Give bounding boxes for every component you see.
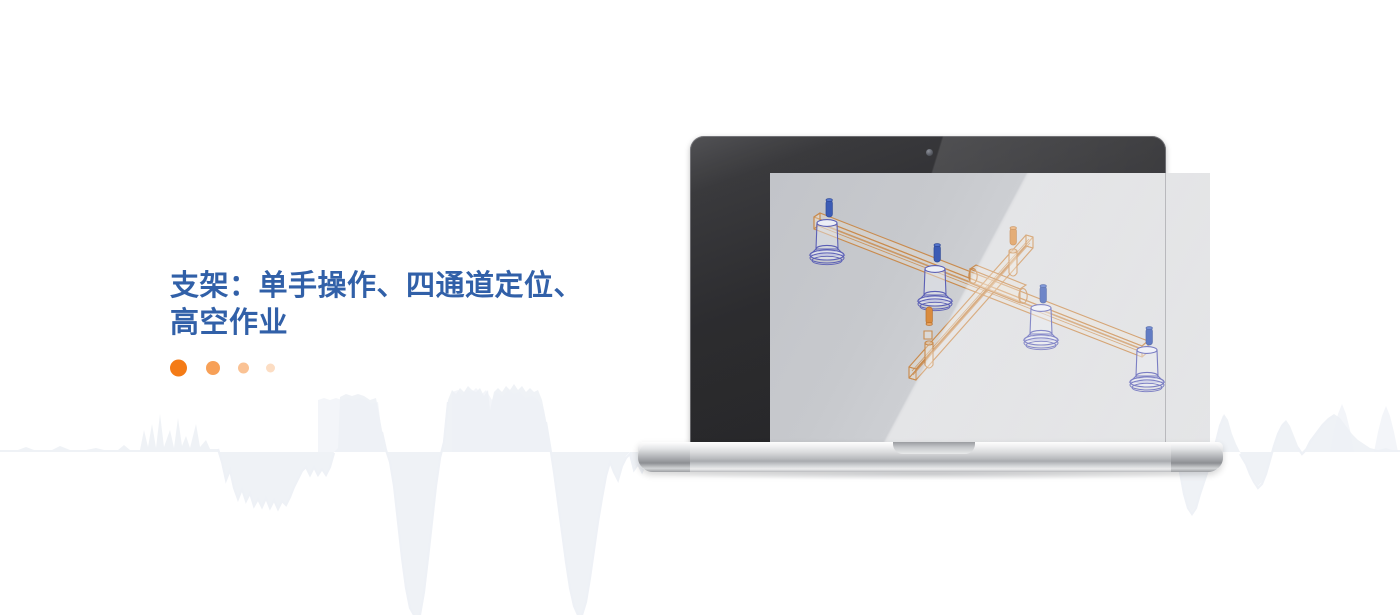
cad-bracket-drawing [770, 173, 1210, 444]
copy-block: 支架：单手操作、四通道定位、 高空作业 [170, 268, 600, 378]
adjuster-pin-1 [1010, 227, 1016, 245]
carousel-dot-3[interactable] [238, 363, 249, 374]
adjuster-pin-2 [926, 307, 932, 325]
laptop-base-notch [893, 442, 975, 454]
laptop-lid [690, 136, 1166, 454]
locking-pin-1 [826, 199, 832, 217]
laptop-base [638, 442, 1223, 472]
locking-pin-3 [1040, 285, 1046, 303]
laptop-base-right-cap [1171, 442, 1223, 472]
laptop-mockup [628, 130, 1228, 480]
carousel-dot-1[interactable] [170, 360, 187, 377]
locking-pin-2 [934, 244, 940, 262]
laptop-base-left-cap [638, 442, 690, 472]
page-title: 支架：单手操作、四通道定位、 高空作业 [170, 268, 600, 342]
locking-pin-4 [1146, 327, 1152, 345]
slide-canvas: 支架：单手操作、四通道定位、 高空作业 [0, 0, 1400, 615]
webcam-dot [926, 149, 933, 156]
carousel-dot-4[interactable] [266, 364, 275, 373]
laptop-screen [770, 173, 1210, 444]
carousel-dots[interactable] [170, 358, 600, 378]
carousel-dot-2[interactable] [206, 361, 220, 375]
